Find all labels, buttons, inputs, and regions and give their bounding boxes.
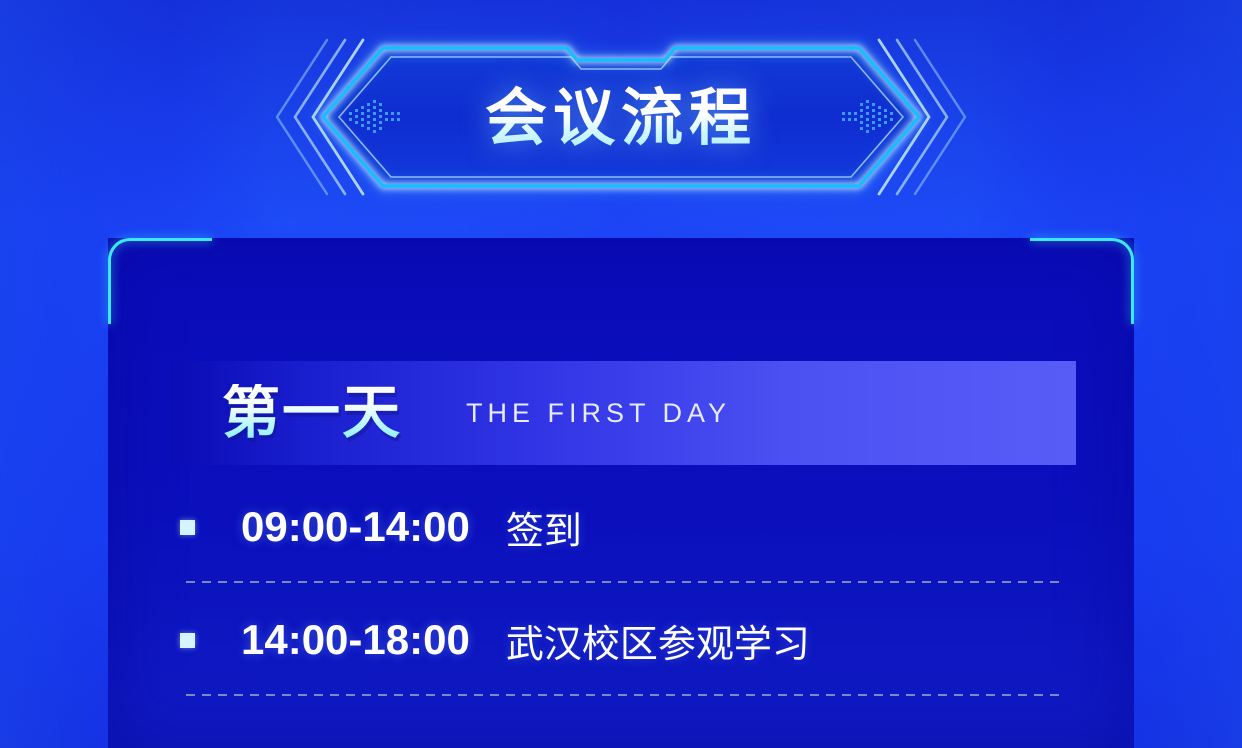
schedule-list: 09:00-14:00 签到 14:00-18:00 武汉校区参观学习 — [170, 478, 1076, 704]
schedule-time: 14:00-18:00 — [241, 616, 470, 664]
row-divider — [186, 581, 1062, 583]
day-banner: 第一天 THE FIRST DAY — [170, 361, 1076, 465]
day-label-en: THE FIRST DAY — [466, 398, 731, 429]
row-divider — [186, 694, 1062, 696]
schedule-description: 武汉校区参观学习 — [506, 613, 810, 668]
panel-corner-top-left — [108, 238, 212, 324]
page-title: 会议流程 — [305, 84, 937, 150]
schedule-description: 签到 — [506, 500, 582, 555]
schedule-row: 14:00-18:00 武汉校区参观学习 — [170, 591, 1076, 704]
schedule-row: 09:00-14:00 签到 — [170, 478, 1076, 591]
title-banner: 会议流程 — [305, 42, 937, 192]
bullet-square-icon — [180, 520, 195, 535]
schedule-time: 09:00-14:00 — [241, 503, 470, 551]
bullet-square-icon — [180, 633, 195, 648]
panel-corner-top-right — [1030, 238, 1134, 324]
day-label-cn: 第一天 — [222, 384, 402, 442]
